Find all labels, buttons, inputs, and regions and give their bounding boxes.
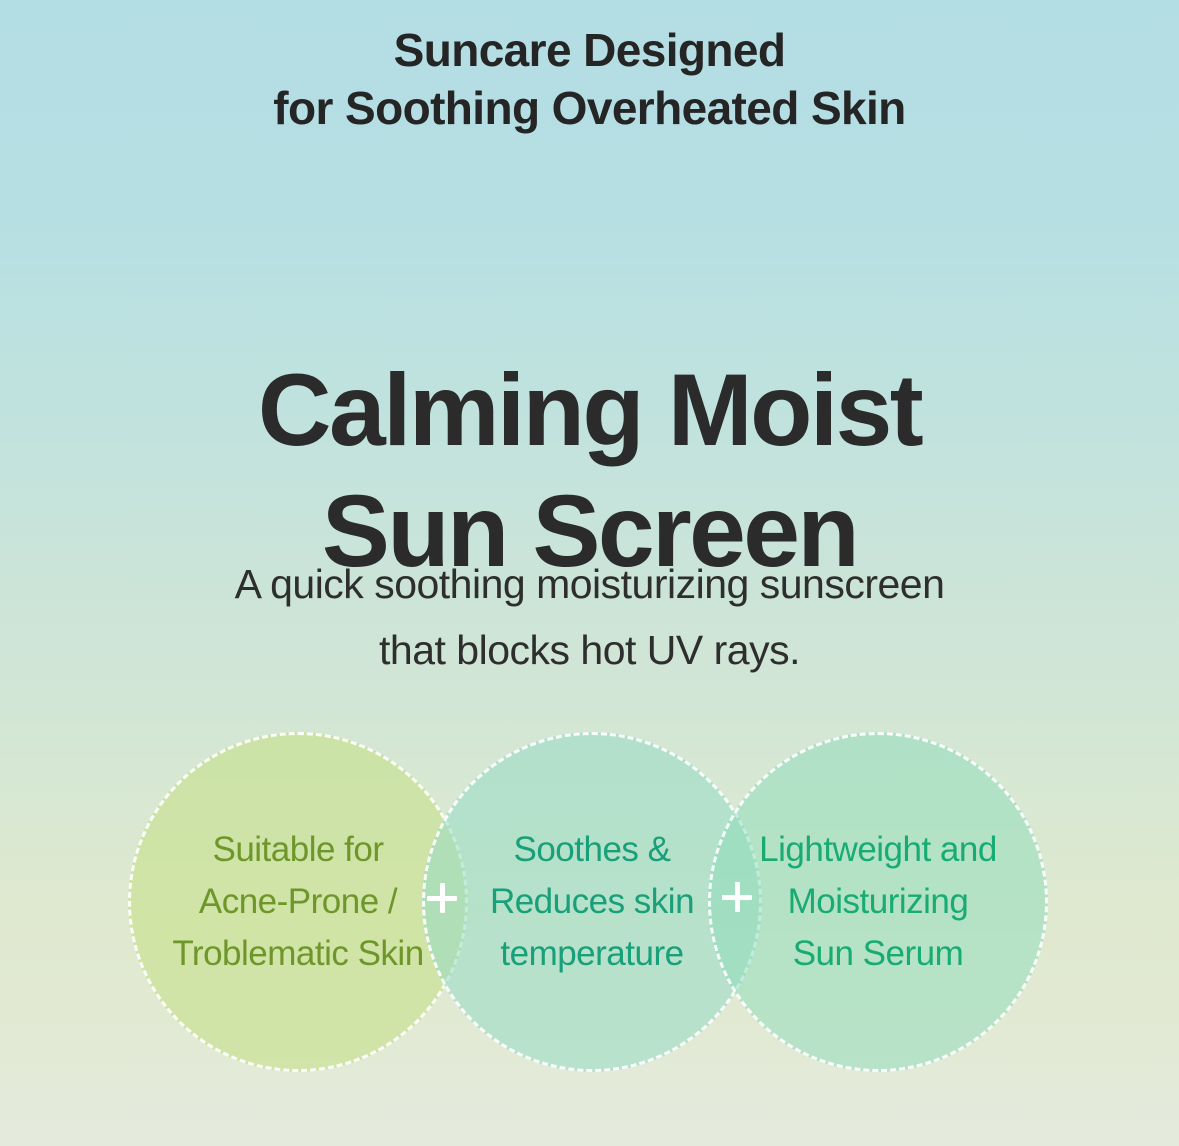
benefit-label-acne-prone: Suitable for Acne-Prone / Troblematic Sk… [158, 824, 437, 979]
benefit-label-lightweight-serum: Lightweight and Moisturizing Sun Serum [745, 824, 1011, 979]
product-title-line-1: Calming Moist [0, 350, 1179, 470]
eyebrow-heading: Suncare Designed for Soothing Overheated… [0, 22, 1179, 137]
eyebrow-line-2: for Soothing Overheated Skin [0, 80, 1179, 138]
benefits-venn-diagram: Suitable for Acne-Prone / Troblematic Sk… [0, 732, 1179, 1077]
product-hero-banner: Suncare Designed for Soothing Overheated… [0, 0, 1179, 1146]
eyebrow-line-1: Suncare Designed [0, 22, 1179, 80]
benefit-lightweight-line-2: Moisturizing [759, 876, 997, 928]
benefit-label-soothes-temperature: Soothes & Reduces skin temperature [476, 824, 708, 979]
benefit-acne-prone-line-3: Troblematic Skin [172, 928, 423, 980]
description-line-2: that blocks hot UV rays. [0, 617, 1179, 683]
description-line-1: A quick soothing moisturizing sunscreen [0, 551, 1179, 617]
benefit-circle-acne-prone: Suitable for Acne-Prone / Troblematic Sk… [128, 732, 468, 1072]
benefit-lightweight-line-3: Sun Serum [759, 928, 997, 980]
benefit-lightweight-line-1: Lightweight and [759, 824, 997, 876]
benefit-soothes-line-2: Reduces skin [490, 876, 694, 928]
benefit-acne-prone-line-1: Suitable for [172, 824, 423, 876]
benefit-circle-lightweight-serum: Lightweight and Moisturizing Sun Serum [708, 732, 1048, 1072]
benefit-soothes-line-1: Soothes & [490, 824, 694, 876]
benefit-acne-prone-line-2: Acne-Prone / [172, 876, 423, 928]
product-description: A quick soothing moisturizing sunscreen … [0, 551, 1179, 684]
benefit-soothes-line-3: temperature [490, 928, 694, 980]
